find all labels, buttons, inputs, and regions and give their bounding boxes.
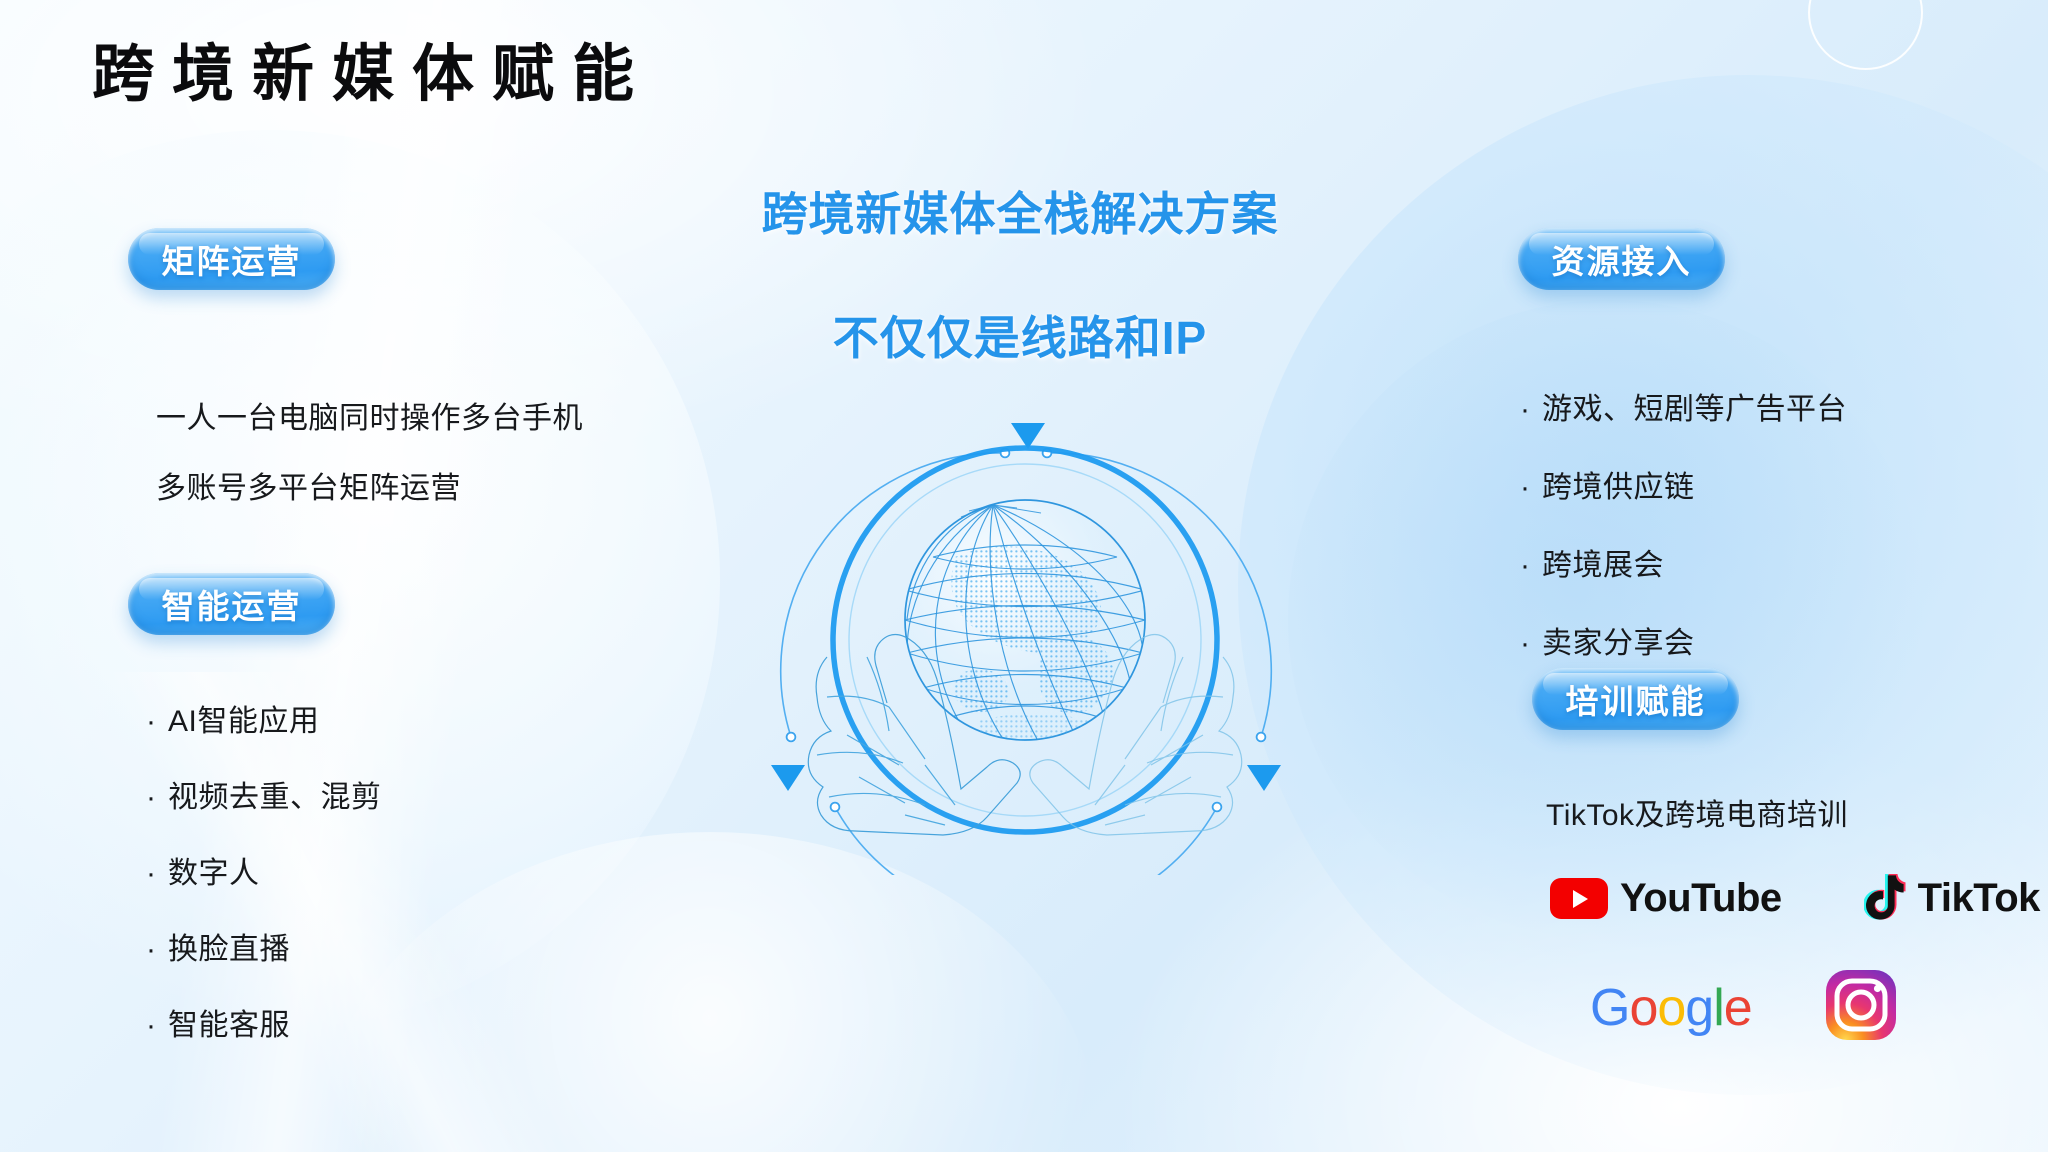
bullet-dot-icon: · [146, 857, 168, 891]
bullet-dot-icon: · [146, 1009, 168, 1043]
badge-label: 培训赋能 [1566, 675, 1706, 723]
list-item-label: 视频去重、混剪 [168, 772, 382, 816]
list-item: · 智能客服 [146, 1000, 382, 1044]
list-item-label: 游戏、短剧等广告平台 [1542, 384, 1847, 428]
bullet-dot-icon: · [1520, 393, 1542, 427]
left-bullet-list: · AI智能应用 · 视频去重、混剪 · 数字人 · 换脸直播 · 智能客服 [146, 696, 382, 1044]
bullet-dot-icon: · [146, 933, 168, 967]
badge-training-empowerment[interactable]: 培训赋能 [1532, 668, 1739, 730]
right-bullet-list: · 游戏、短剧等广告平台 · 跨境供应链 · 跨境展会 · 卖家分享会 [1520, 384, 1847, 662]
list-item-label: 跨境展会 [1542, 540, 1664, 584]
list-item: · 游戏、短剧等广告平台 [1520, 384, 1847, 428]
page-title: 跨境新媒体赋能 [92, 44, 652, 106]
bullet-dot-icon: · [1520, 549, 1542, 583]
right-text-line-1: TikTok及跨境电商培训 [1546, 790, 1848, 834]
headline-primary: 跨境新媒体全栈解决方案 [640, 178, 1400, 244]
badge-smart-operations[interactable]: 智能运营 [128, 573, 335, 635]
list-item: · 数字人 [146, 848, 382, 892]
bullet-dot-icon: · [146, 705, 168, 739]
logo-row-top: YouTube TikTok [1550, 872, 2040, 925]
instagram-logo[interactable]: Instagram [1824, 968, 1898, 1047]
bullet-dot-icon: · [1520, 471, 1542, 505]
list-item: · AI智能应用 [146, 696, 382, 740]
list-item-label: AI智能应用 [168, 696, 319, 740]
badge-label: 智能运营 [162, 580, 302, 628]
badge-label: 资源接入 [1552, 235, 1692, 283]
list-item-label: 卖家分享会 [1542, 618, 1695, 662]
list-item-label: 跨境供应链 [1542, 462, 1695, 506]
decorative-blob-bottom [320, 832, 1100, 1152]
badge-matrix-operations[interactable]: 矩阵运营 [128, 228, 335, 290]
globe-in-hands-illustration [755, 405, 1295, 875]
decorative-light-sheen-2 [0, 672, 860, 1152]
decorative-ring-outline [1808, 0, 1923, 70]
badge-label: 矩阵运营 [162, 235, 302, 283]
slide-canvas: 跨境新媒体赋能 跨境新媒体全栈解决方案 不仅仅是线路和IP [0, 0, 2048, 1152]
list-item: · 换脸直播 [146, 924, 382, 968]
list-item: · 跨境供应链 [1520, 462, 1847, 506]
youtube-logo[interactable]: YouTube [1550, 876, 1782, 921]
youtube-play-icon [1550, 878, 1608, 919]
list-item: · 卖家分享会 [1520, 618, 1847, 662]
list-item-label: 数字人 [168, 848, 260, 892]
google-logo[interactable]: Google Google [1590, 978, 1752, 1038]
bullet-dot-icon: · [1520, 627, 1542, 661]
tiktok-wordmark: TikTok [1918, 876, 2040, 921]
list-item-label: 换脸直播 [168, 924, 290, 968]
list-item: · 跨境展会 [1520, 540, 1847, 584]
left-text-line-2: 多账号多平台矩阵运营 [156, 463, 461, 507]
list-item: · 视频去重、混剪 [146, 772, 382, 816]
youtube-wordmark: YouTube [1620, 876, 1782, 921]
headline-secondary: 不仅仅是线路和IP [640, 302, 1400, 368]
center-headline-block: 跨境新媒体全栈解决方案 不仅仅是线路和IP [640, 178, 1400, 368]
logo-row-bottom: Google Google Instagram [1590, 968, 1898, 1047]
bullet-dot-icon: · [146, 781, 168, 815]
tiktok-logo[interactable]: TikTok [1864, 872, 2040, 925]
left-text-line-1: 一人一台电脑同时操作多台手机 [156, 393, 583, 437]
list-item-label: 智能客服 [168, 1000, 290, 1044]
badge-resource-access[interactable]: 资源接入 [1518, 228, 1725, 290]
tiktok-note-icon [1864, 872, 1908, 925]
